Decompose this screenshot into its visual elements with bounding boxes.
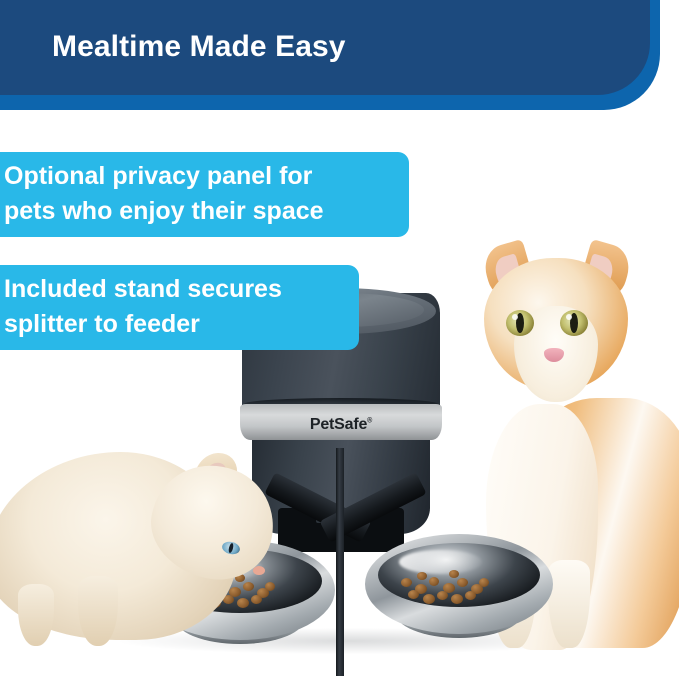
bowl-right xyxy=(365,534,553,634)
kibble xyxy=(479,578,489,587)
product-feature-image: PetSafe® xyxy=(0,0,679,676)
kibble xyxy=(265,582,275,591)
cat-left-hindleg xyxy=(18,584,54,646)
kibble xyxy=(408,590,419,599)
kibble xyxy=(465,591,476,600)
trademark-mark: ® xyxy=(367,418,372,425)
callout-included-stand: Included stand secures splitter to feede… xyxy=(0,265,359,350)
kibble xyxy=(451,594,463,604)
kibble xyxy=(449,570,459,578)
bowl-right-highlight xyxy=(399,550,482,574)
kibble xyxy=(429,577,439,586)
kibble xyxy=(251,595,262,604)
kibble xyxy=(401,578,412,587)
callout-privacy-panel: Optional privacy panel for pets who enjo… xyxy=(0,152,409,237)
kibble xyxy=(237,598,249,608)
cat-right-eye-left xyxy=(506,310,534,336)
kibble xyxy=(437,591,448,600)
feeder-stand-post xyxy=(336,448,344,676)
kibble xyxy=(417,572,427,580)
cat-right-eye-right xyxy=(560,310,588,336)
page-title: Mealtime Made Easy xyxy=(52,30,346,64)
petsafe-logo-text: PetSafe xyxy=(310,416,367,433)
kibble xyxy=(457,578,468,587)
petsafe-logo: PetSafe® xyxy=(240,416,442,434)
kibble xyxy=(243,582,254,591)
cat-left-nose xyxy=(253,566,265,575)
cat-right-hindleg xyxy=(548,560,590,648)
kibble xyxy=(423,594,435,604)
